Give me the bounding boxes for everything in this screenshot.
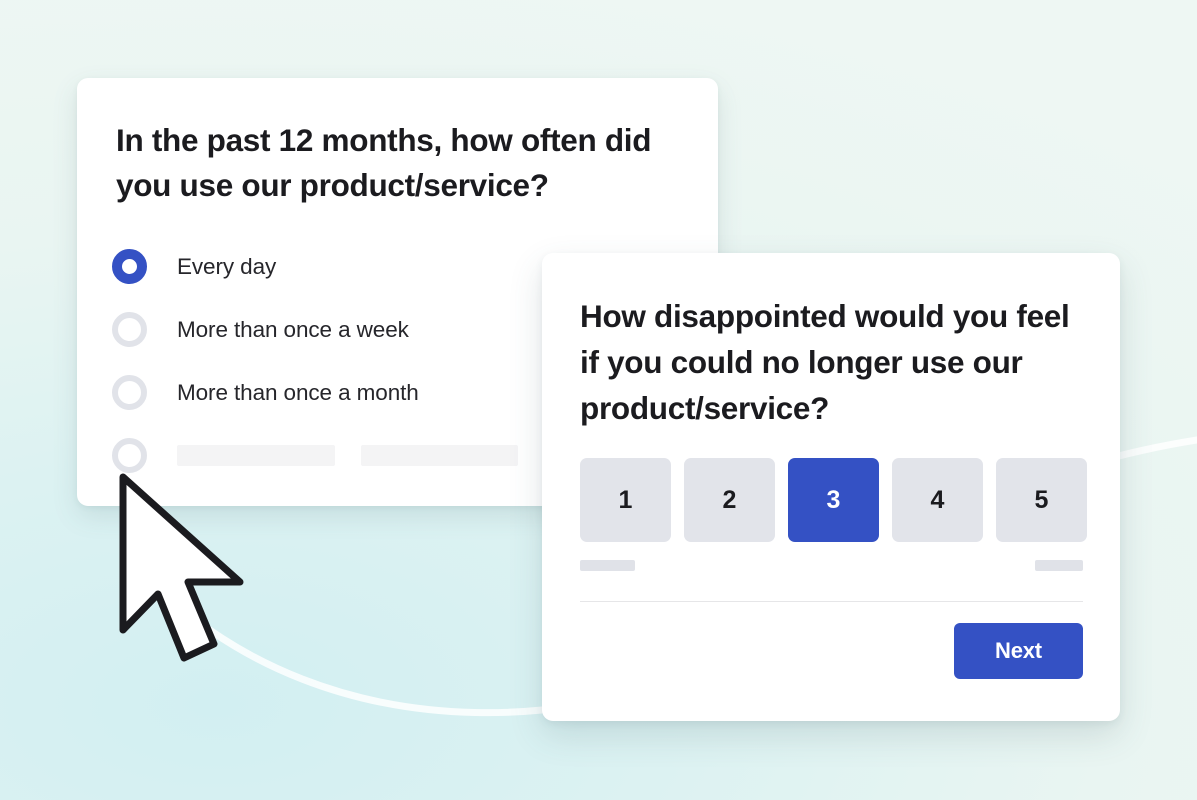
option-label-placeholder (177, 445, 518, 466)
disappointment-question-title: How disappointed would you feel if you c… (580, 293, 1080, 431)
disappointment-question-card: How disappointed would you feel if you c… (542, 253, 1120, 721)
option-label-every-day: Every day (177, 254, 276, 280)
card-divider (580, 601, 1083, 602)
option-label-more-than-once-a-month: More than once a month (177, 380, 419, 406)
frequency-question-title: In the past 12 months, how often did you… (116, 118, 686, 208)
rating-scale: 1 2 3 4 5 (580, 458, 1087, 542)
option-label-more-than-once-a-week: More than once a week (177, 317, 409, 343)
legend-placeholder-low (580, 560, 635, 571)
radio-every-day[interactable] (112, 249, 147, 284)
rating-button-4[interactable]: 4 (892, 458, 983, 542)
skeleton-bar-right (361, 445, 518, 466)
skeleton-bar-left (177, 445, 335, 466)
rating-button-2[interactable]: 2 (684, 458, 775, 542)
rating-button-5[interactable]: 5 (996, 458, 1087, 542)
legend-placeholder-high (1035, 560, 1083, 571)
rating-button-1[interactable]: 1 (580, 458, 671, 542)
radio-more-than-once-a-week[interactable] (112, 312, 147, 347)
next-button[interactable]: Next (954, 623, 1083, 679)
rating-button-3[interactable]: 3 (788, 458, 879, 542)
radio-more-than-once-a-month[interactable] (112, 375, 147, 410)
screenshot-stage: In the past 12 months, how often did you… (0, 0, 1197, 800)
radio-placeholder[interactable] (112, 438, 147, 473)
rating-scale-legend (580, 560, 1083, 571)
